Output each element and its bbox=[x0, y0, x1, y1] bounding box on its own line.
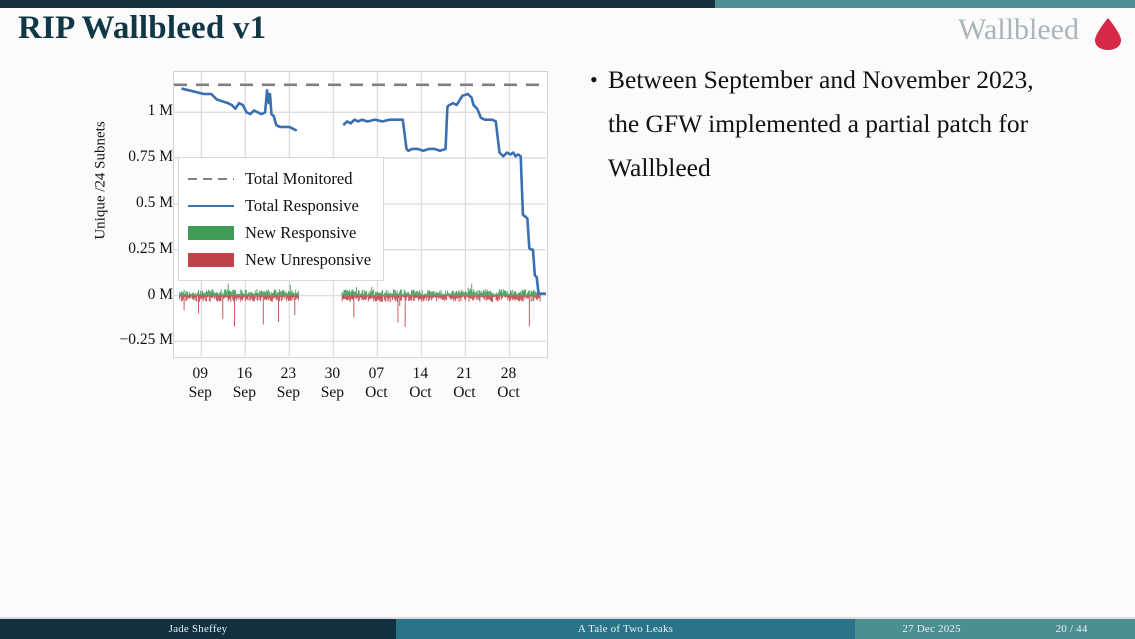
bullet-text: Between September and November 2023, the… bbox=[608, 58, 1060, 190]
legend-item-label: Total Monitored bbox=[245, 169, 352, 189]
chart-x-tick-label: 16Sep bbox=[233, 364, 256, 402]
legend-swatch-icon bbox=[188, 252, 234, 268]
page-title: RIP Wallbleed v1 bbox=[18, 10, 266, 47]
slide-footer: Jade Sheffey A Tale of Two Leaks 27 Dec … bbox=[0, 619, 1135, 639]
chart-x-tick-label: 23Sep bbox=[277, 364, 300, 402]
legend-item: Total Responsive bbox=[188, 192, 371, 219]
legend-item-label: Total Responsive bbox=[245, 196, 359, 216]
legend-item: Total Monitored bbox=[188, 165, 371, 192]
legend-item: New Responsive bbox=[188, 219, 371, 246]
chart-y-tick-label: 0.5 M bbox=[69, 194, 173, 212]
footer-date: 27 Dec 2025 bbox=[902, 623, 960, 635]
chart-y-axis-ticks: 1 M0.75 M0.5 M0.25 M0 M−0.25 M bbox=[60, 62, 173, 407]
legend-item-label: New Unresponsive bbox=[245, 250, 371, 270]
legend-swatch-icon bbox=[188, 198, 234, 214]
chart-x-tick-label: 28Oct bbox=[497, 364, 519, 402]
chart-y-tick-label: 0.75 M bbox=[69, 148, 173, 166]
chart-plot-area: Total MonitoredTotal ResponsiveNew Respo… bbox=[173, 71, 548, 358]
chart-y-tick-label: −0.25 M bbox=[69, 331, 173, 349]
chart-x-tick-label: 09Sep bbox=[189, 364, 212, 402]
blood-drop-icon bbox=[1093, 17, 1123, 51]
chart-x-tick-label: 30Sep bbox=[321, 364, 344, 402]
top-accent-bar bbox=[0, 0, 1135, 8]
chart-x-axis-ticks: 09Sep16Sep23Sep30Sep07Oct14Oct21Oct28Oct bbox=[173, 364, 548, 410]
footer-title-segment: A Tale of Two Leaks bbox=[396, 619, 855, 639]
chart-x-tick-label: 07Oct bbox=[365, 364, 387, 402]
footer-talk-title: A Tale of Two Leaks bbox=[578, 623, 673, 635]
list-item: • Between September and November 2023, t… bbox=[590, 58, 1090, 190]
legend-swatch-icon bbox=[188, 171, 234, 187]
chart-y-tick-label: 1 M bbox=[69, 102, 173, 120]
slide-root: RIP Wallbleed v1 Wallbleed • Between Sep… bbox=[0, 0, 1135, 639]
chart-y-tick-label: 0 M bbox=[69, 286, 173, 304]
footer-page-number: 20 / 44 bbox=[1056, 623, 1088, 635]
chart-figure: Unique /24 Subnets 1 M0.75 M0.5 M0.25 M0… bbox=[60, 62, 560, 407]
bullet-marker-icon: • bbox=[590, 58, 608, 102]
slide-header: RIP Wallbleed v1 Wallbleed bbox=[0, 8, 1135, 56]
chart-legend: Total MonitoredTotal ResponsiveNew Respo… bbox=[178, 157, 384, 281]
chart-x-tick-label: 21Oct bbox=[453, 364, 475, 402]
legend-item-label: New Responsive bbox=[245, 223, 356, 243]
legend-item: New Unresponsive bbox=[188, 246, 371, 273]
brand-label: Wallbleed bbox=[958, 13, 1079, 47]
chart-x-tick-label: 14Oct bbox=[409, 364, 431, 402]
legend-swatch-icon bbox=[188, 225, 234, 241]
chart-y-tick-label: 0.25 M bbox=[69, 240, 173, 258]
top-accent-right bbox=[715, 0, 1135, 8]
footer-author: Jade Sheffey bbox=[169, 623, 228, 635]
bullet-list: • Between September and November 2023, t… bbox=[590, 58, 1090, 190]
top-accent-left bbox=[0, 0, 715, 8]
footer-author-segment: Jade Sheffey bbox=[0, 619, 396, 639]
footer-meta-segment: 27 Dec 2025 20 / 44 bbox=[855, 619, 1135, 639]
